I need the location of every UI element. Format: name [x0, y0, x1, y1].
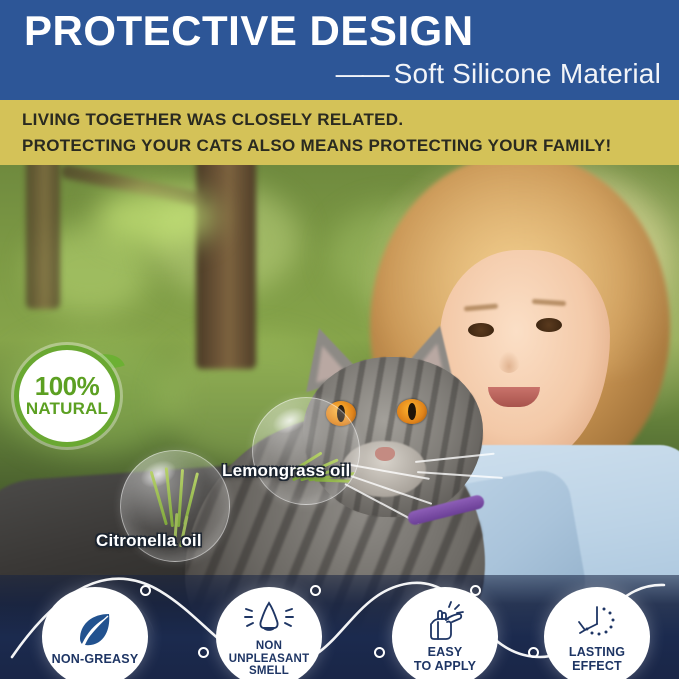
lemongrass-bubble-icon — [252, 397, 360, 505]
natural-percent: 100% — [35, 373, 100, 399]
feature-label: LASTING EFFECT — [569, 645, 625, 673]
bubble-highlight — [137, 455, 181, 492]
tree-trunk — [26, 165, 60, 309]
natural-badge-circle: 100% NATURAL — [14, 345, 120, 447]
feature-label-line2: EFFECT — [572, 659, 622, 673]
natural-label: NATURAL — [26, 399, 108, 419]
snapping-fingers-icon — [422, 601, 468, 643]
cat-pupil — [408, 403, 416, 420]
page-title: PROTECTIVE DESIGN — [24, 10, 474, 52]
feature-badge-non-greasy: NON-GREASY — [42, 587, 148, 679]
girl-eye — [536, 318, 562, 332]
feature-label: EASY TO APPLY — [414, 645, 476, 673]
feature-badge-lasting-effect: LASTING EFFECT — [544, 587, 650, 679]
nose-icon — [243, 596, 295, 638]
lemongrass-oil-label: Lemongrass oil — [222, 461, 350, 481]
feature-label: NON UNPLEASANT SMELL — [229, 640, 310, 679]
connector-node — [470, 585, 481, 596]
grass-blade — [177, 469, 184, 527]
leaf-cluster — [96, 187, 216, 247]
tagline-banner: LIVING TOGETHER WAS CLOSELY RELATED. PRO… — [0, 100, 679, 165]
bubble-highlight — [269, 402, 312, 438]
natural-badge: 100% NATURAL — [14, 345, 124, 451]
connector-node — [310, 585, 321, 596]
clock-arrow-icon — [574, 601, 620, 643]
connector-node — [140, 585, 151, 596]
leaf-icon — [75, 608, 115, 650]
connector-node — [198, 647, 209, 658]
feature-label-line2: UNPLEASANT — [229, 653, 310, 665]
product-marketing-image: PROTECTIVE DESIGN ——Soft Silicone Materi… — [0, 0, 679, 679]
feature-label-line1: LASTING — [569, 645, 625, 659]
em-dash: —— — [336, 58, 388, 89]
tagline-line-1: LIVING TOGETHER WAS CLOSELY RELATED. — [22, 110, 403, 130]
connector-node — [374, 647, 385, 658]
citronella-oil-label: Citronella oil — [96, 531, 202, 551]
feature-label-line3: SMELL — [249, 665, 289, 677]
header-subtitle: ——Soft Silicone Material — [336, 58, 661, 90]
tagline-line-2: PROTECTING YOUR CATS ALSO MEANS PROTECTI… — [22, 136, 612, 156]
feature-label-line1: EASY — [428, 645, 463, 659]
feature-badge-easy-to-apply: EASY TO APPLY — [392, 587, 498, 679]
feature-label-line2: TO APPLY — [414, 659, 476, 673]
feature-badge-non-unpleasant-smell: NON UNPLEASANT SMELL — [216, 587, 322, 679]
feature-strip: NON-GREASY NON UNPLEASANT SMELL — [0, 575, 679, 679]
connector-node — [528, 647, 539, 658]
feature-label-line1: NON — [256, 640, 282, 652]
header-subtitle-text: Soft Silicone Material — [394, 58, 661, 89]
feature-label: NON-GREASY — [52, 652, 139, 666]
header-banner: PROTECTIVE DESIGN ——Soft Silicone Materi… — [0, 0, 679, 100]
